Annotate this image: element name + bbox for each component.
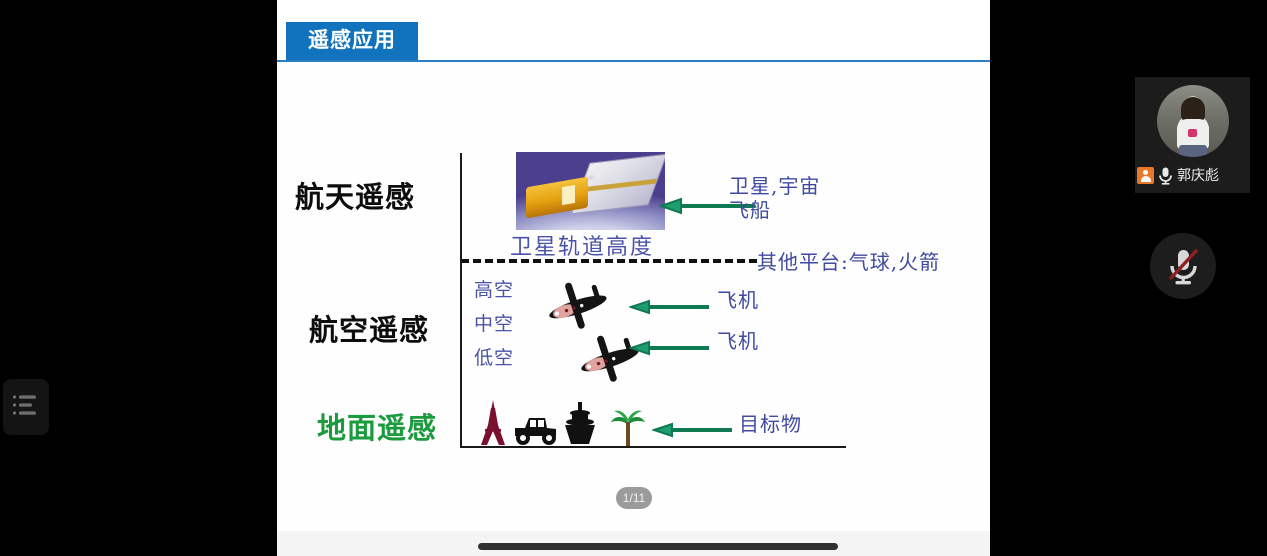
arrow-to-target-object <box>652 421 732 439</box>
altitude-label-mid: 中空 <box>474 309 514 336</box>
arrow-to-airplane-low <box>629 339 709 357</box>
altitude-label-low: 低空 <box>474 343 514 370</box>
slide-body: 航天遥感 航空遥感 地面遥感 卫星轨道高度 卫星,宇宙 飞船 <box>277 62 990 531</box>
callout-satellite: 卫星,宇宙 飞船 <box>729 174 820 222</box>
callout-satellite-line2: 飞船 <box>729 198 820 222</box>
ship-icon <box>559 400 601 448</box>
horizontal-scrollbar[interactable] <box>478 543 838 550</box>
callout-airplane-low: 飞机 <box>717 329 759 353</box>
slide-viewer[interactable]: 遥感应用 航天遥感 航空遥感 地面遥感 卫星轨道高度 <box>277 0 990 531</box>
callout-target-object: 目标物 <box>739 412 802 436</box>
participant-tile[interactable]: 郭庆彪 <box>1135 77 1250 193</box>
host-badge-icon <box>1137 167 1154 184</box>
orbit-altitude-caption: 卫星轨道高度 <box>510 229 654 261</box>
arrow-to-airplane-high <box>629 298 709 316</box>
category-label-aerial: 航空遥感 <box>309 307 429 349</box>
left-rail <box>0 0 277 556</box>
page-indicator: 1/11 <box>616 487 652 509</box>
diagram-vertical-axis <box>460 153 462 448</box>
remote-sensing-diagram: 航天遥感 航空遥感 地面遥感 卫星轨道高度 卫星,宇宙 飞船 <box>277 62 990 492</box>
participant-name: 郭庆彪 <box>1177 165 1219 185</box>
slide-title: 遥感应用 <box>286 22 418 61</box>
bottom-bar <box>277 531 990 556</box>
other-platform-caption: 其他平台:气球,火箭 <box>757 250 940 274</box>
list-toggle-button[interactable] <box>3 379 49 435</box>
slide-header: 遥感应用 <box>277 0 990 62</box>
callout-satellite-line1: 卫星,宇宙 <box>729 174 820 198</box>
airplane-low-icon <box>573 326 645 388</box>
mic-icon <box>1157 166 1174 185</box>
avatar-jeans-shape <box>1179 145 1207 157</box>
mute-mic-button[interactable] <box>1150 233 1216 299</box>
satellite-photo <box>516 152 665 230</box>
avatar-shirt-graphic <box>1188 129 1197 137</box>
callout-airplane-high: 飞机 <box>717 288 759 312</box>
avatar <box>1157 85 1229 157</box>
eiffel-tower-icon <box>476 399 510 447</box>
screen-root: 遥感应用 航天遥感 航空遥感 地面遥感 卫星轨道高度 <box>0 0 1267 556</box>
category-label-ground: 地面遥感 <box>317 405 437 447</box>
participant-name-row: 郭庆彪 <box>1137 164 1219 186</box>
mic-muted-icon <box>1150 233 1216 299</box>
category-label-space: 航天遥感 <box>295 174 415 216</box>
palm-tree-icon <box>609 408 647 448</box>
list-icon <box>12 393 40 421</box>
right-rail: 郭庆彪 <box>990 0 1267 556</box>
altitude-label-high: 高空 <box>474 275 514 302</box>
car-icon <box>509 412 561 448</box>
